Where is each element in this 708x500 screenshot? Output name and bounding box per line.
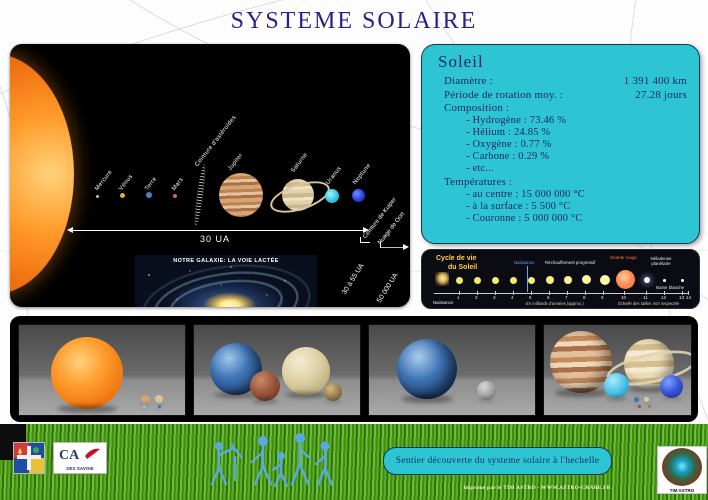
- cycle-num-13: 13: [679, 295, 684, 300]
- page-title: SYSTEME SOLAIRE: [0, 8, 708, 35]
- soleil-row-rotation-value: 27.28 jours: [635, 89, 687, 101]
- asteroid-belt-graphic: [193, 164, 208, 226]
- earth-orb-tiny: [634, 397, 639, 402]
- stick-figures-with-telescopes: [205, 430, 335, 492]
- footer-imprint: Imprimé par le TIM ASTRO - WWW.ASTRO-CRA…: [392, 485, 682, 491]
- cycle-dot-4: [510, 277, 517, 284]
- cycle-num-1: 1: [457, 295, 460, 300]
- cycle-birth-nebula: [435, 272, 449, 286]
- credit-agricole-sub: DES SAVOIE: [54, 466, 106, 471]
- cycle-num-6: 6: [547, 295, 550, 300]
- planet-neptune: [352, 189, 365, 202]
- size-comparison-strip: [10, 316, 698, 422]
- planet-label-neptune: Neptune: [352, 163, 372, 186]
- soleil-temperature-centre: - au centre : 15 000 000 °C: [466, 189, 699, 200]
- poster-root: SYSTEME SOLAIRE Mercure Vénus Terre Mars…: [0, 0, 708, 500]
- cycle-title-line2: du Soleil: [448, 263, 477, 272]
- uranus-orb-tiny: [143, 405, 146, 408]
- cycle-dot-5: [528, 277, 535, 284]
- cycle-num-8: 8: [583, 295, 586, 300]
- soleil-composition-hydrogene: - Hydrogène : 73.46 %: [466, 115, 699, 126]
- jupiter-orb-small: [141, 395, 150, 404]
- cycle-num-2: 2: [475, 295, 478, 300]
- oort-bracket-tick: [380, 242, 381, 248]
- photo-earth-moon: [368, 324, 536, 416]
- kuiper-bracket-tick: [360, 237, 361, 243]
- cycle-title: Cycle de vie du Soleil: [436, 254, 477, 272]
- planet-label-asteroid-belt: Ceinture d'astéroïdes: [194, 115, 238, 168]
- planet-mars: [173, 194, 177, 198]
- planet-mercury: [96, 195, 99, 198]
- soleil-composition-oxygene: - Oxygène : 0.77 %: [466, 139, 699, 150]
- soleil-composition-helium: - Hélium : 24.85 %: [466, 127, 699, 138]
- earth-orb-large: [397, 339, 457, 399]
- planet-jupiter: [219, 173, 263, 217]
- cycle-dot-1: [456, 277, 463, 284]
- soleil-row-rotation-label: Période de rotation moy. :: [444, 89, 563, 101]
- photo-gas-giants: [543, 324, 692, 416]
- footer-caption: Sentier découverte du systeme solaire à …: [383, 447, 612, 475]
- soleil-composition-label: Composition :: [444, 102, 699, 114]
- soleil-info-panel: Soleil Diamètre : 1 391 400 km Période d…: [421, 44, 700, 244]
- feature-label-kuiper: Ceinture de Kuiper: [362, 197, 398, 240]
- kuiper-bracket: [360, 242, 370, 243]
- soleil-temperature-couronne: - Couronne : 5 000 000 °C: [466, 213, 699, 224]
- cycle-dot-8: [582, 275, 591, 284]
- cycle-num-10: 10: [621, 295, 626, 300]
- logo-credit-agricole: CA DES SAVOIE: [53, 442, 107, 474]
- distance-label-oort: 50 000 UA: [376, 272, 399, 304]
- logo-coat-of-arms: [13, 442, 45, 474]
- soleil-composition-carbone: - Carbone : 0.29 %: [466, 151, 699, 162]
- cycle-axis: [434, 293, 689, 294]
- sun-orb: [51, 337, 123, 409]
- galaxy-inset: NOTRE GALAXIE: LA VOIE LACTÉE SYSTEME SO…: [135, 255, 317, 307]
- soleil-composition-etc: - etc...: [466, 163, 699, 174]
- sun-lifecycle-panel: Cycle de vie du Soleil Naissance Naissan…: [421, 249, 700, 309]
- coat-of-arms-icon: [14, 443, 44, 473]
- cycle-dot-white-dwarf-2: [681, 279, 684, 282]
- tim-astro-label: TIM ASTRO: [658, 488, 706, 493]
- cycle-dot-white-dwarf-1: [663, 279, 666, 282]
- cycle-num-9: 9: [601, 295, 604, 300]
- cycle-label-naine-blanche: Naine blanche: [656, 285, 684, 290]
- cycle-dot-7: [564, 276, 572, 284]
- cycle-dot-6: [546, 276, 554, 284]
- cycle-label-geante-rouge: Géante rouge: [610, 255, 637, 260]
- planet-earth: [146, 192, 152, 198]
- cycle-label-naissance-left: Naissance: [433, 300, 454, 305]
- cycle-num-14: 14: [686, 295, 691, 300]
- distance-label-30ua: 30 UA: [200, 234, 230, 244]
- planet-label-mercure: Mercure: [94, 169, 114, 192]
- sun-graphic: [10, 54, 74, 294]
- uranus-orb-large: [604, 373, 629, 398]
- mercury-orb-tiny: [648, 405, 651, 408]
- cycle-label-rechauffement: Réchauffement progressif: [545, 260, 595, 265]
- cycle-num-7: 7: [565, 295, 568, 300]
- neptune-orb-large: [660, 375, 683, 398]
- soleil-row-diametre-value: 1 391 400 km: [624, 75, 687, 87]
- cycle-dot-red-giant: [616, 270, 635, 289]
- credit-agricole-icon: CA: [55, 444, 105, 466]
- cycle-footer-note: Échelle des tailles non respectée: [618, 301, 679, 306]
- planet-venus: [120, 193, 125, 198]
- soleil-temperature-surface: - à la surface : 5 500 °C: [466, 201, 699, 212]
- planet-uranus: [325, 189, 339, 203]
- planet-label-mars: Mars: [171, 177, 185, 192]
- arrow-head-right: [363, 227, 369, 233]
- saturn-orb-small: [155, 395, 163, 403]
- neptune-orb-tiny: [158, 405, 161, 408]
- cycle-dot-2: [474, 277, 481, 284]
- planet-label-saturne: Saturne: [290, 152, 309, 174]
- cycle-dot-3: [492, 277, 499, 284]
- planet-label-venus: Vénus: [118, 174, 134, 192]
- cycle-num-3: 3: [493, 295, 496, 300]
- planet-label-terre: Terre: [144, 176, 158, 192]
- distance-label-kuiper: 30 à 55 UA: [341, 263, 366, 296]
- jupiter-orb-large: [550, 331, 612, 393]
- svg-text:CA: CA: [59, 448, 80, 463]
- venus-orb: [282, 347, 330, 395]
- distance-arrow-30ua: [70, 230, 366, 231]
- cycle-num-4: 4: [511, 295, 514, 300]
- logo-tim-astro: TIM ASTRO: [657, 446, 707, 494]
- cycle-birth-marker-line: [527, 266, 528, 292]
- cycle-num-12: 12: [661, 295, 666, 300]
- cycle-title-line1: Cycle de vie: [436, 255, 476, 262]
- cycle-dot-9: [600, 275, 610, 285]
- planet-label-jupiter: Jupiter: [227, 152, 244, 172]
- moon-orb: [477, 381, 496, 400]
- soleil-heading: Soleil: [438, 52, 699, 72]
- oort-arrow-head: [403, 244, 409, 250]
- mars-orb-tiny: [638, 405, 641, 408]
- galaxy-title: NOTRE GALAXIE: LA VOIE LACTÉE: [135, 258, 317, 264]
- soleil-temperatures-label: Températures :: [444, 176, 699, 188]
- cycle-num-5: 5: [529, 295, 532, 300]
- cycle-num-11: 11: [643, 295, 648, 300]
- cycle-label-naissance: Naissance: [514, 260, 535, 265]
- arrow-head-left: [67, 227, 73, 233]
- soleil-row-diametre: Diamètre : 1 391 400 km: [444, 75, 699, 87]
- mercury-orb: [324, 383, 342, 401]
- solar-system-panel: Mercure Vénus Terre Mars Ceinture d'asté…: [10, 44, 410, 307]
- cycle-label-nebuleuse: Nébuleuse planétaire: [644, 256, 678, 266]
- planet-label-uranus: Uranus: [325, 166, 343, 186]
- soleil-row-rotation: Période de rotation moy. : 27.28 jours: [444, 89, 699, 101]
- photo-sun-vs-planets: [18, 324, 186, 416]
- mars-orb: [250, 371, 280, 401]
- photo-terrestrial-planets: [193, 324, 361, 416]
- cycle-footer-units: En milliards d'années (approx.): [526, 301, 584, 306]
- crab-nebula-icon: [662, 448, 702, 486]
- cycle-dot-planetary-nebula: [644, 277, 650, 283]
- venus-orb-tiny: [644, 397, 649, 402]
- soleil-row-diametre-label: Diamètre :: [444, 75, 493, 87]
